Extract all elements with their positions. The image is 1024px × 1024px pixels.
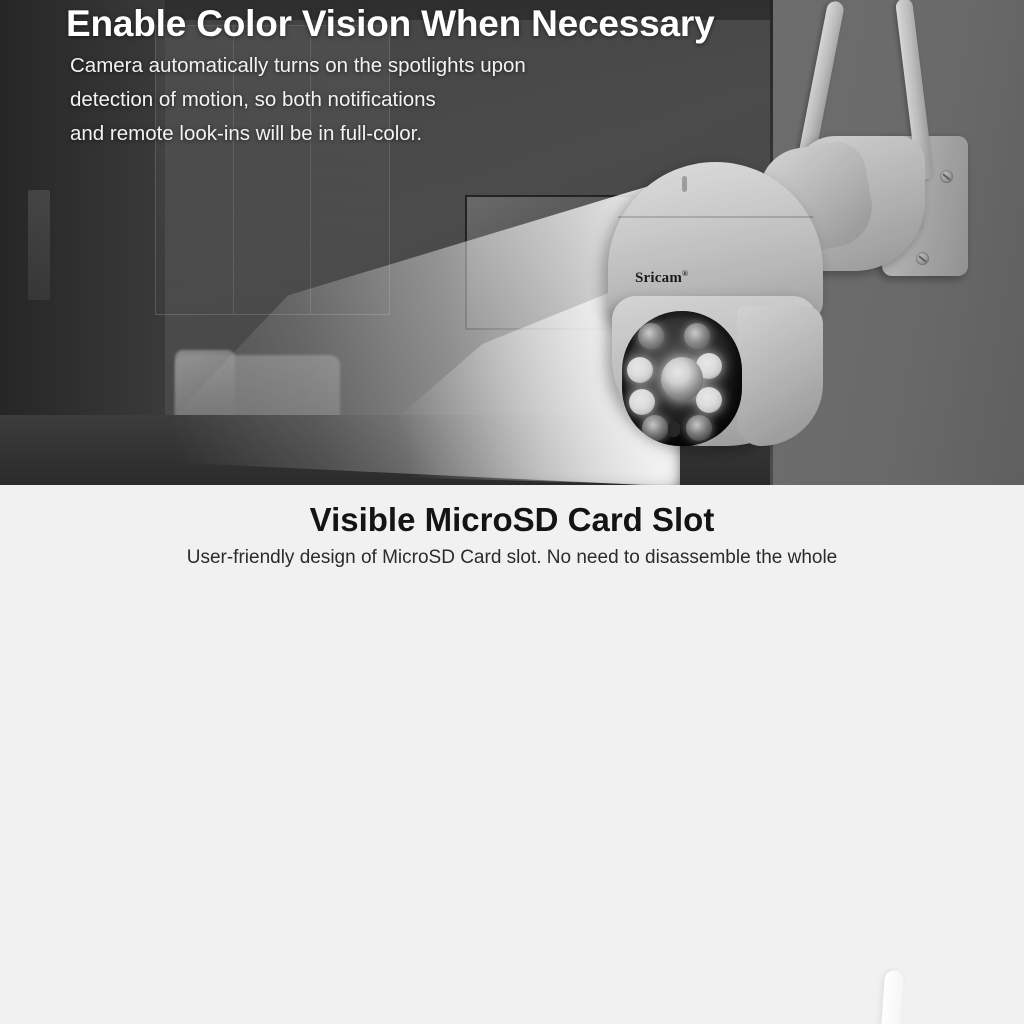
registered-mark: ® [682,269,688,278]
cradle-arm [737,306,823,446]
screw-icon [940,170,953,183]
page-title-color-vision: Enable Color Vision When Necessary [66,3,714,45]
microphone-slot-icon [682,176,687,192]
description-microsd: User-friendly design of MicroSD Card slo… [0,547,1024,569]
camera-cradle [612,296,817,446]
screw-icon [916,252,929,265]
brand-logo: Sricam® [635,269,688,287]
camera-render-top: Sricam® [590,118,990,485]
description-color-vision: Camera automatically turns on the spotli… [70,49,526,151]
product-feature-page: Enable Color Vision When Necessary Camer… [0,0,1024,1024]
lens-housing [622,311,742,446]
pir-sensor-icon [668,421,680,437]
camera-lens [661,357,703,401]
ir-led [686,415,712,441]
antenna [859,970,904,1024]
ir-led [642,415,668,441]
panel-color-vision: Enable Color Vision When Necessary Camer… [0,0,1024,485]
panel-microsd-slot: Visible MicroSD Card Slot User-friendly … [0,485,1024,1024]
description-line: detection of motion, so both notificatio… [70,83,526,117]
ir-led [684,323,710,349]
room-door-handle [28,190,50,300]
room-sofa-back [175,350,235,420]
description-line: and remote look-ins will be in full-colo… [70,117,526,151]
page-title-microsd: Visible MicroSD Card Slot [0,501,1024,539]
ir-led [638,323,664,349]
spotlight-led [696,387,722,413]
brand-name: Sricam [635,270,682,286]
spotlight-led [627,357,653,383]
dome-seam [618,216,813,218]
spotlight-led [629,389,655,415]
description-line: Camera automatically turns on the spotli… [70,49,526,83]
